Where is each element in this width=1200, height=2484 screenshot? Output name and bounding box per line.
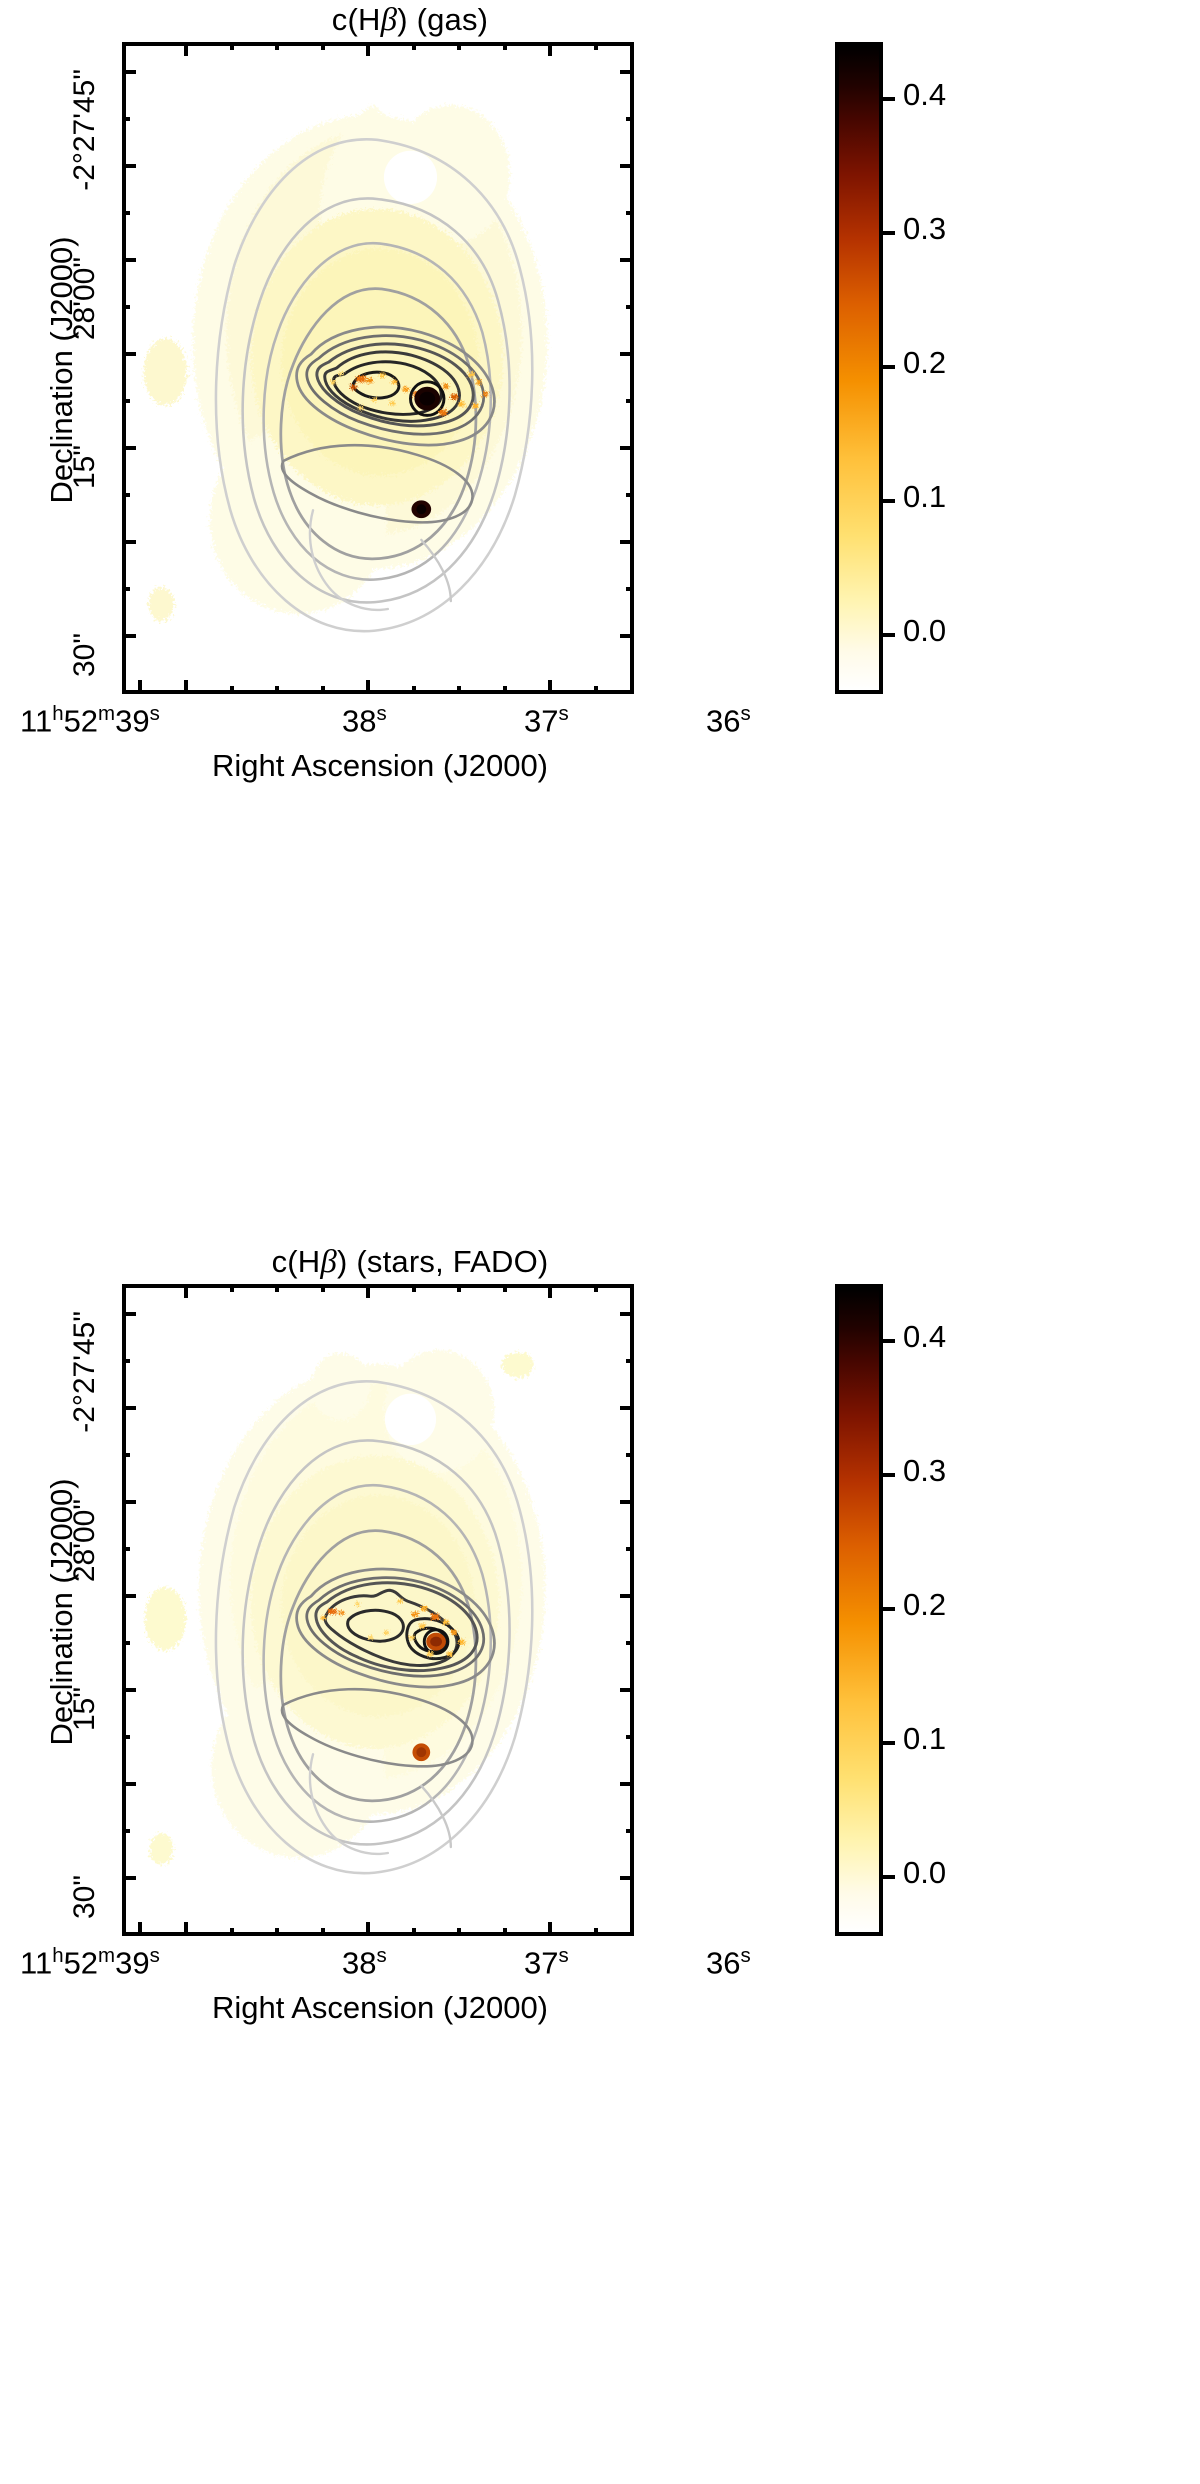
ytick-minor-2 [122,211,130,215]
ytick2-right-m5 [626,1735,634,1739]
xtick2-bot-0 [138,1922,142,1936]
xtick2-bot-m2 [275,1928,279,1936]
title-text-a: c(H [332,2,381,37]
xtick-top-m1 [230,42,234,50]
xtick2-sec-sup: s [150,1944,160,1967]
ytick-label-4-wrap: 30" [0,616,85,652]
xtick-top-m3 [321,42,325,50]
cblabel2-5: 0.0 [903,1855,946,1891]
xtick-bot-m7 [594,686,598,694]
ytick2-right-6 [620,1782,634,1786]
title2-text-a: c(H [272,1244,321,1279]
ytick-right-m2 [626,211,634,215]
ytick2-right-m3 [626,1547,634,1551]
xtick-bot-0 [138,680,142,694]
masked-star-2 [385,1394,436,1445]
xtick-top-2 [366,42,370,56]
cblabel-1: 0.4 [903,77,946,113]
sky-map-stars[interactable] [122,1284,634,1936]
xtick-bot-m4 [412,686,416,694]
ytick2-right-m6 [626,1829,634,1833]
figure-root: c(Hβ) (gas) [0,0,1200,2484]
ytick-minor-3 [122,305,130,309]
cblabel2-1: 0.4 [903,1319,946,1355]
xtick2-bot-m6 [503,1928,507,1936]
xtick-top-m7 [594,42,598,50]
cbtick-4 [883,499,895,503]
dark-nucleus-gas [414,387,440,411]
panel-stars-fado: c(Hβ) (stars, FADO) [0,1242,1200,2484]
cblabel-4: 0.1 [903,479,946,515]
ytick-right-7 [620,634,634,638]
xtick-bot-2 [366,680,370,694]
xtick-sec-sup: s [150,702,160,725]
dark-knot-gas [411,500,431,518]
ytick2-right-5 [620,1688,634,1692]
ytick2-major-1 [122,1312,136,1316]
colorbar-stars[interactable] [835,1284,883,1936]
ytick-right-5 [620,446,634,450]
xtick2-label-2: 38s [342,1944,387,1981]
ytick-right-2 [620,164,634,168]
ytick2-right-3 [620,1500,634,1504]
cblabel-5: 0.0 [903,613,946,649]
ytick2-right-m1 [626,1359,634,1363]
xtick2-bot-1 [184,1922,188,1936]
xtick-label-2: 38s [342,702,387,739]
xtick2-hour-sup: h [52,1944,63,1967]
xtick-hour: 11 [20,703,52,738]
xtick-bot-m3 [321,686,325,694]
ytick-right-4 [620,352,634,356]
yaxis-title-stars: Declination (J2000) [44,1402,80,1822]
cbtick2-5 [883,1875,895,1879]
ytick2-label-4: 30" [68,1875,102,2115]
ytick2-label-4-wrap: 30" [0,1858,85,1894]
panel-gas: c(Hβ) (gas) [0,0,1200,1242]
xaxis-title-gas: Right Ascension (J2000) [110,748,650,784]
xtick-4-num: 36 [706,703,740,738]
ytick2-right-m2 [626,1453,634,1457]
ytick2-minor-3 [122,1547,130,1551]
ytick-minor-4 [122,399,130,403]
xtick-bot-m6 [503,686,507,694]
xtick-top-m5 [457,42,461,50]
xtick2-label-1: 11h52m39s [20,1944,260,1981]
ytick-right-6 [620,540,634,544]
cbtick-3 [883,365,895,369]
cblabel2-3: 0.2 [903,1587,946,1623]
ytick-minor-5 [122,493,130,497]
ytick2-minor-2 [122,1453,130,1457]
ytick2-minor-4 [122,1641,130,1645]
xtick-top-m6 [503,42,507,50]
xtick2-top-2 [366,1284,370,1298]
xtick-label-1: 11h52m39s [20,702,260,739]
cbtick2-4 [883,1741,895,1745]
ytick2-minor-5 [122,1735,130,1739]
title-text-c: ) (gas) [397,2,488,37]
xtick2-bot-m5 [457,1928,461,1936]
xtick2-bot-2 [366,1922,370,1936]
xtick2-min-sup: m [98,1944,115,1967]
xtick-min: 52 [64,703,98,738]
ytick-major-1 [122,70,136,74]
xtick-bot-m1 [230,686,234,694]
xtick2-3-num: 37 [524,1945,558,1980]
ytick2-minor-1 [122,1359,130,1363]
ytick-major-7 [122,634,136,638]
ytick-right-m1 [626,117,634,121]
xtick2-2-sup: s [376,1944,386,1967]
xtick2-hour: 11 [20,1945,52,1980]
ytick2-right-1 [620,1312,634,1316]
ytick2-major-2 [122,1406,136,1410]
ytick-right-3 [620,258,634,262]
title2-beta-symbol: β [320,1244,337,1280]
xtick2-label-3: 37s [524,1944,569,1981]
xtick-bot-m5 [457,686,461,694]
ytick-minor-6 [122,587,130,591]
ytick2-major-7 [122,1876,136,1880]
xtick2-bot-m1 [230,1928,234,1936]
ytick2-right-m4 [626,1641,634,1645]
xtick2-top-m3 [321,1284,325,1292]
xtick2-bot-m7 [594,1928,598,1936]
xtick-sec: 39 [115,703,149,738]
ytick-minor-1 [122,117,130,121]
ytick-major-4 [122,352,136,356]
masked-star [384,151,437,204]
ytick2-right-4 [620,1594,634,1598]
xtick2-4-sup: s [740,1944,750,1967]
cblabel-2: 0.3 [903,211,946,247]
cblabel-3: 0.2 [903,345,946,381]
xtick2-sec: 39 [115,1945,149,1980]
sky-map-gas[interactable] [122,42,634,694]
colorbar-gas[interactable] [835,42,883,694]
cbtick2-2 [883,1473,895,1477]
ytick-label-4: 30" [68,633,102,873]
xtick2-4-num: 36 [706,1945,740,1980]
xtick-label-3: 37s [524,702,569,739]
ytick2-major-4 [122,1594,136,1598]
ytick-right-m3 [626,305,634,309]
cbtick-2 [883,231,895,235]
ytick2-major-6 [122,1782,136,1786]
xtick2-3-sup: s [558,1944,568,1967]
xtick-bot-3 [548,680,552,694]
cblabel2-2: 0.3 [903,1453,946,1489]
ytick2-label-1-wrap: -2°27'45" [0,1294,85,1330]
xtick-3-sup: s [558,702,568,725]
ytick-right-1 [620,70,634,74]
ytick2-major-5 [122,1688,136,1692]
xtick2-bot-m4 [412,1928,416,1936]
xtick-top-m4 [412,42,416,50]
dark-nucleus-stars [426,1633,446,1651]
cbtick2-1 [883,1339,895,1343]
xtick2-bot-m3 [321,1928,325,1936]
ytick-major-6 [122,540,136,544]
sky-image-gas [126,46,630,690]
xtick2-top-m6 [503,1284,507,1292]
ytick-major-5 [122,446,136,450]
ytick-label-1-wrap: -2°27'45" [0,52,85,88]
xtick-bot-m2 [275,686,279,694]
title-beta-symbol: β [381,2,398,38]
xtick2-top-m1 [230,1284,234,1292]
dark-knot-stars [412,1743,430,1761]
xtick2-top-m5 [457,1284,461,1292]
panel-title-stars: c(Hβ) (stars, FADO) [0,1244,820,1280]
ytick2-major-3 [122,1500,136,1504]
xtick-min-sup: m [98,702,115,725]
xtick2-top-m7 [594,1284,598,1292]
xtick-top-m2 [275,42,279,50]
xtick2-top-m4 [412,1284,416,1292]
ytick-major-3 [122,258,136,262]
ytick-right-m4 [626,399,634,403]
xtick2-2-num: 38 [342,1945,376,1980]
xtick2-label-4: 36s [706,1944,751,1981]
xtick2-min: 52 [64,1945,98,1980]
xtick-2-sup: s [376,702,386,725]
xtick2-top-m2 [275,1284,279,1292]
xtick-hour-sup: h [52,702,63,725]
sky-image-stars [126,1288,630,1932]
ytick-right-m6 [626,587,634,591]
ytick2-minor-6 [122,1829,130,1833]
cblabel2-4: 0.1 [903,1721,946,1757]
ytick2-right-7 [620,1876,634,1880]
xtick-2-num: 38 [342,703,376,738]
xtick2-top-1 [184,1284,188,1298]
xtick-top-3 [548,42,552,56]
xaxis-title-stars: Right Ascension (J2000) [110,1990,650,2026]
xtick-top-1 [184,42,188,56]
yaxis-title-gas: Declination (J2000) [44,160,80,580]
xtick-4-sup: s [740,702,750,725]
cbtick2-3 [883,1607,895,1611]
cbtick-1 [883,97,895,101]
ytick-right-m5 [626,493,634,497]
ytick2-right-2 [620,1406,634,1410]
xtick-label-4: 36s [706,702,751,739]
xtick2-bot-3 [548,1922,552,1936]
cbtick-5 [883,633,895,637]
title2-text-c: ) (stars, FADO) [337,1244,548,1279]
xtick2-top-3 [548,1284,552,1298]
panel-title-gas: c(Hβ) (gas) [0,2,820,38]
ytick-major-2 [122,164,136,168]
xtick-bot-1 [184,680,188,694]
xtick-3-num: 37 [524,703,558,738]
